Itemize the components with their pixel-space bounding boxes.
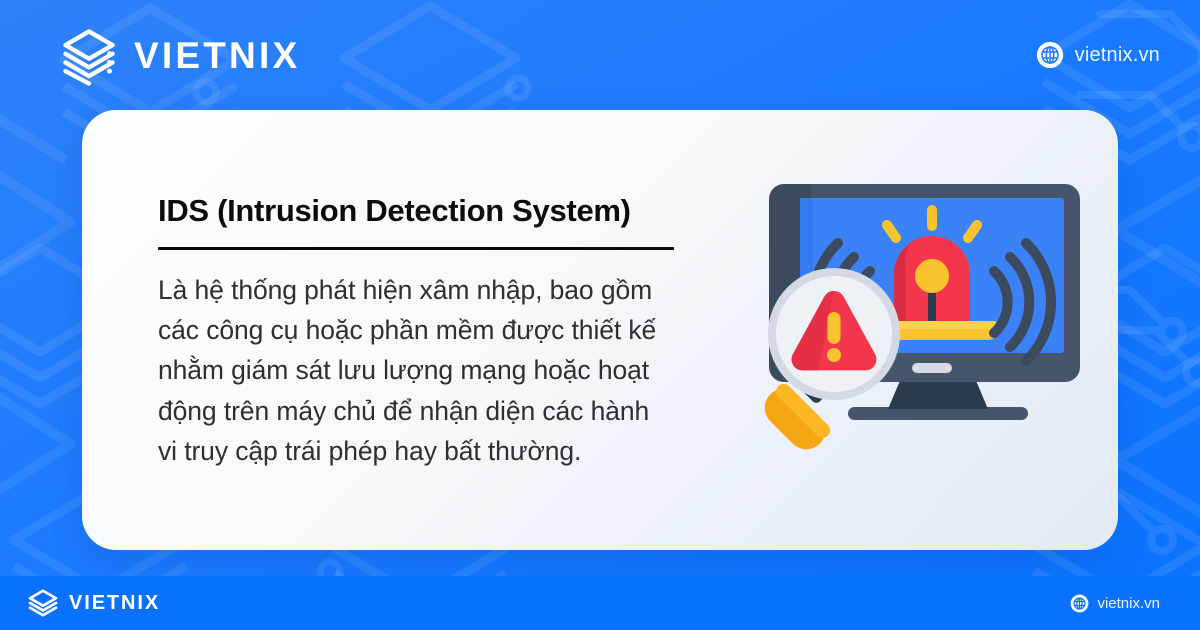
footer-website-link[interactable]: vietnix.vn — [1070, 594, 1160, 613]
globe-icon — [1036, 41, 1064, 69]
page-title: IDS (Intrusion Detection System) — [158, 194, 678, 229]
globe-icon — [1070, 594, 1089, 613]
header-brand[interactable]: VIETNIX — [58, 24, 300, 86]
footer-brand[interactable]: VIETNIX — [26, 586, 160, 620]
poster-canvas: VIETNIX vietnix.vn IDS (Intrusion Detect… — [0, 0, 1200, 630]
content-card: IDS (Intrusion Detection System) Là hệ t… — [82, 110, 1118, 550]
title-divider — [158, 247, 674, 250]
description-line: nhằm giám sát lưu lượng mạng hoặc hoạt — [158, 350, 678, 390]
magnifying-glass-icon — [762, 268, 900, 457]
vietnix-stacked-layers-logo — [58, 24, 120, 86]
description-line: Là hệ thống phát hiện xâm nhập, bao gồm — [158, 270, 678, 310]
vietnix-stacked-layers-logo — [26, 586, 60, 620]
description-line: các công cụ hoặc phần mềm được thiết kế — [158, 310, 678, 350]
footer-brand-name: VIETNIX — [69, 593, 160, 613]
description-line: động trên máy chủ để nhận diện các hành — [158, 391, 678, 431]
ids-monitor-alarm-magnifier-illustration — [762, 166, 1102, 476]
header-website-link[interactable]: vietnix.vn — [1036, 41, 1160, 69]
description-line: vi truy cập trái phép hay bất thường. — [158, 431, 678, 471]
card-text-block: IDS (Intrusion Detection System) Là hệ t… — [158, 194, 678, 471]
footer-bar: VIETNIX vietnix.vn — [0, 576, 1200, 630]
website-label: vietnix.vn — [1075, 44, 1160, 67]
header-bar: VIETNIX vietnix.vn — [0, 0, 1200, 110]
footer-website-label: vietnix.vn — [1097, 595, 1160, 612]
card-description: Là hệ thống phát hiện xâm nhập, bao gồm … — [158, 270, 678, 471]
brand-name: VIETNIX — [134, 37, 300, 74]
